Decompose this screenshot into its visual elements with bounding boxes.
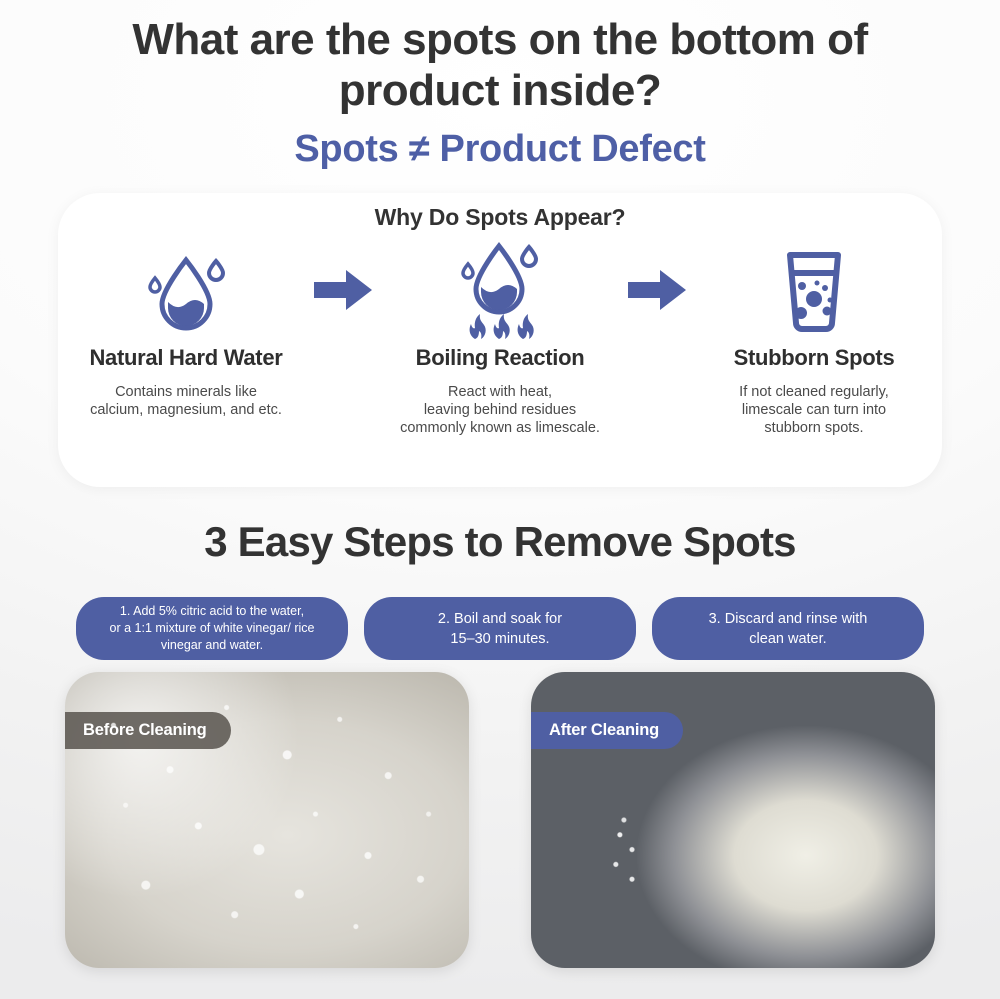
why-spots-card: Why Do Spots Appear? Natural Hard Water … bbox=[58, 193, 942, 487]
flow-step-title: Boiling Reaction bbox=[386, 345, 614, 371]
arrow-right-icon bbox=[614, 237, 700, 343]
step-pill-2[interactable]: 2. Boil and soak for15–30 minutes. bbox=[364, 597, 636, 660]
flow-step-desc: If not cleaned regularly,limescale can t… bbox=[700, 383, 928, 437]
boiling-drop-flames-icon bbox=[386, 237, 614, 343]
flow-step-natural-hard-water: Natural Hard Water Contains minerals lik… bbox=[72, 237, 300, 419]
step-pill-1[interactable]: 1. Add 5% citric acid to the water,or a … bbox=[76, 597, 348, 660]
flow-step-desc: React with heat,leaving behind residuesc… bbox=[386, 383, 614, 437]
steps-pill-row: 1. Add 5% citric acid to the water,or a … bbox=[0, 597, 1000, 660]
header: What are the spots on the bottom of prod… bbox=[0, 0, 1000, 172]
flow-step-title: Stubborn Spots bbox=[700, 345, 928, 371]
glass-with-spots-icon bbox=[700, 237, 928, 343]
page-title: What are the spots on the bottom of prod… bbox=[0, 14, 1000, 116]
flow-step-boiling-reaction: Boiling Reaction React with heat,leaving… bbox=[386, 237, 614, 437]
card-title: Why Do Spots Appear? bbox=[58, 193, 942, 231]
arrow-right-icon bbox=[300, 237, 386, 343]
step-pill-3[interactable]: 3. Discard and rinse withclean water. bbox=[652, 597, 924, 660]
before-cleaning-badge: Before Cleaning bbox=[65, 712, 231, 749]
flow-step-desc: Contains minerals likecalcium, magnesium… bbox=[72, 383, 300, 419]
spot-cause-flow: Natural Hard Water Contains minerals lik… bbox=[58, 231, 942, 437]
flow-step-title: Natural Hard Water bbox=[72, 345, 300, 371]
before-cleaning-photo: Before Cleaning bbox=[65, 672, 469, 968]
after-cleaning-photo: After Cleaning bbox=[531, 672, 935, 968]
comparison-photos: Before Cleaning After Cleaning bbox=[0, 672, 1000, 968]
page-subtitle: Spots ≠ Product Defect bbox=[0, 126, 1000, 172]
steps-section-title: 3 Easy Steps to Remove Spots bbox=[0, 518, 1000, 566]
after-cleaning-badge: After Cleaning bbox=[531, 712, 683, 749]
water-drop-icon bbox=[72, 237, 300, 343]
flow-step-stubborn-spots: Stubborn Spots If not cleaned regularly,… bbox=[700, 237, 928, 437]
